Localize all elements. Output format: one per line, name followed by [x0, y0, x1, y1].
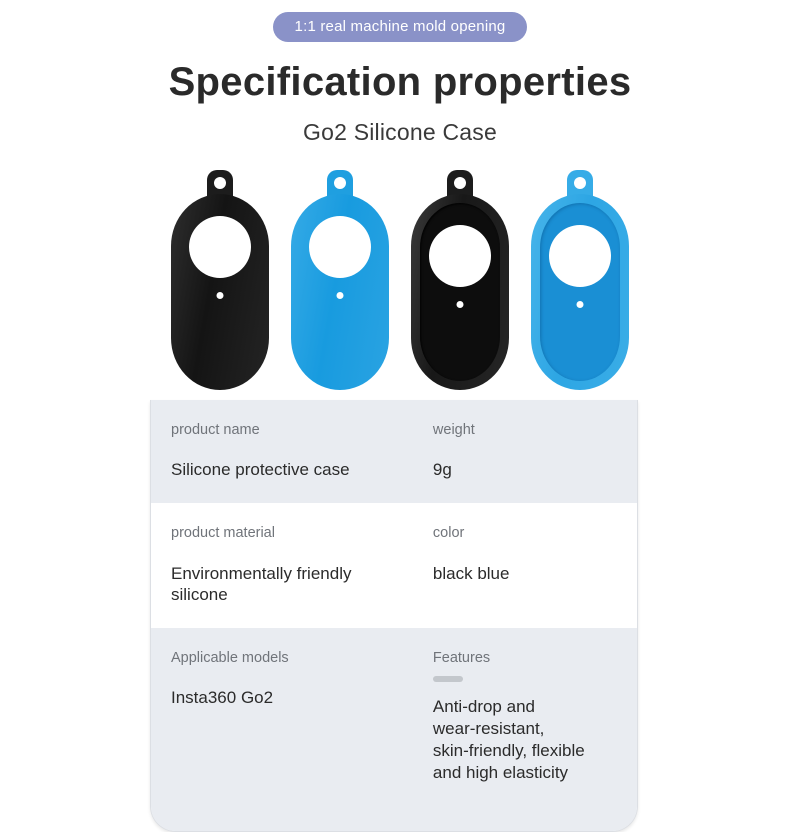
case-body: [171, 194, 269, 390]
lens-cutout: [549, 225, 611, 287]
spec-label: product name: [171, 422, 421, 439]
lanyard-hole: [214, 177, 226, 189]
spec-row-product-material: product material Environmentally friendl…: [151, 503, 637, 628]
indicator-dot: [217, 292, 224, 299]
spec-value: Silicone protective case: [171, 459, 421, 481]
lens-cutout: [309, 216, 371, 278]
spec-cell-weight: weight 9g: [433, 422, 637, 481]
spec-label: color: [433, 525, 637, 542]
lanyard-hole: [334, 177, 346, 189]
lens-cutout: [189, 216, 251, 278]
lanyard-hole: [454, 177, 466, 189]
indicator-dot: [337, 292, 344, 299]
page-subtitle: Go2 Silicone Case: [0, 119, 800, 146]
spec-value: black blue: [433, 563, 637, 585]
spec-cell-color: color black blue: [433, 525, 637, 606]
redaction-dash-icon: [433, 676, 463, 682]
lanyard-hole: [574, 177, 586, 189]
indicator-dot: [457, 301, 464, 308]
mold-opening-badge: 1:1 real machine mold opening: [273, 12, 528, 42]
spec-cell-product-material: product material Environmentally friendl…: [171, 525, 433, 606]
indicator-dot: [577, 301, 584, 308]
page-title: Specification properties: [0, 60, 800, 105]
product-image-strip: [0, 170, 800, 395]
case-body: [531, 194, 629, 390]
spec-cell-applicable-models: Applicable models Insta360 Go2: [171, 650, 433, 783]
lens-cutout: [429, 225, 491, 287]
spec-label: Features: [433, 650, 637, 667]
black-case-angled-image: [411, 170, 509, 390]
spec-label: product material: [171, 525, 421, 542]
spec-value: Insta360 Go2: [171, 687, 421, 709]
spec-value: Environmentally friendly silicone: [171, 563, 421, 607]
case-body: [291, 194, 389, 390]
spec-value: Anti-drop and wear-resistant, skin-frien…: [433, 696, 637, 783]
spec-cell-product-name: product name Silicone protective case: [171, 422, 433, 481]
blue-case-angled-image: [531, 170, 629, 390]
spec-cell-features: Features Anti-drop and wear-resistant, s…: [433, 650, 637, 783]
blue-case-front-image: [291, 170, 389, 390]
badge-row: 1:1 real machine mold opening: [0, 0, 800, 42]
black-case-front-image: [171, 170, 269, 390]
spec-label: Applicable models: [171, 650, 421, 667]
spec-row-applicable-models: Applicable models Insta360 Go2 Features …: [151, 628, 637, 831]
case-inner-rim: [540, 203, 620, 381]
specification-table: product name Silicone protective case we…: [150, 400, 638, 832]
spec-row-product-name: product name Silicone protective case we…: [151, 400, 637, 503]
case-inner-rim: [420, 203, 500, 381]
spec-label: weight: [433, 422, 637, 439]
spec-value: 9g: [433, 459, 637, 481]
case-body: [411, 194, 509, 390]
